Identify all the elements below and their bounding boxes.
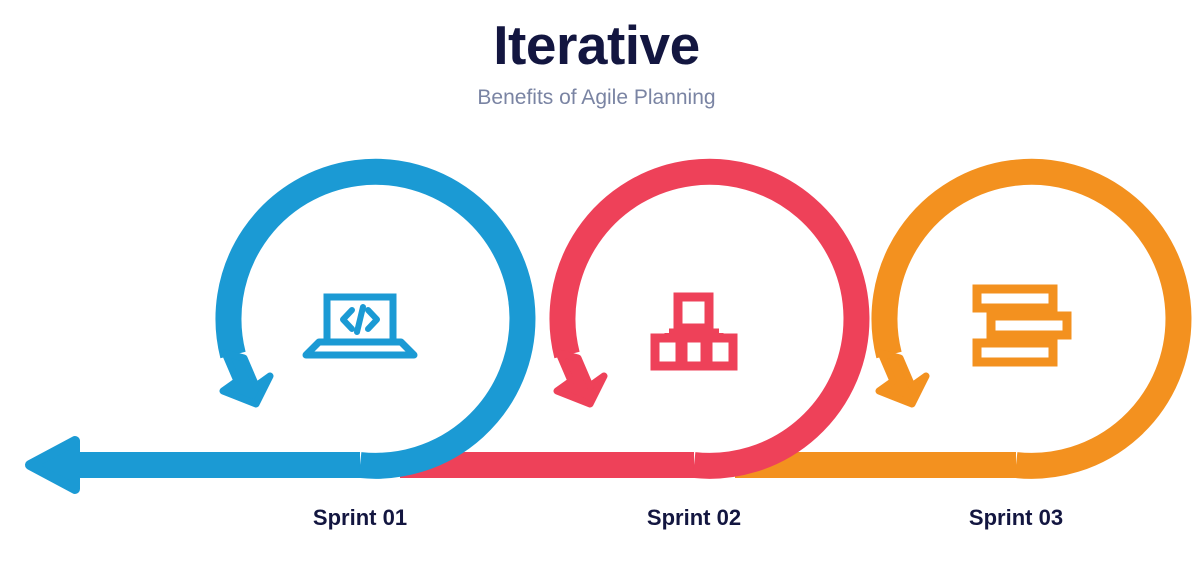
node-right bbox=[705, 338, 733, 366]
iterative-loop-diagram bbox=[0, 0, 1193, 573]
stage-3-arrowhead bbox=[879, 353, 926, 404]
infographic-canvas: Iterative Benefits of Agile Planning bbox=[0, 0, 1193, 573]
baseline-left-arrowhead bbox=[30, 441, 75, 489]
code-left-bracket bbox=[343, 310, 352, 329]
bar-top bbox=[977, 289, 1053, 308]
laptop-code-icon bbox=[306, 297, 414, 355]
stage-label-sprint-01: Sprint 01 bbox=[250, 505, 470, 531]
stage-labels: Sprint 01 Sprint 02 Sprint 03 bbox=[0, 505, 1193, 550]
stage-1-arrowhead bbox=[223, 353, 270, 404]
stacked-bars-icon bbox=[977, 289, 1067, 362]
code-slash bbox=[357, 307, 363, 332]
stage-1-loop[interactable] bbox=[30, 172, 522, 489]
code-right-bracket bbox=[368, 310, 377, 329]
bar-bottom bbox=[977, 343, 1053, 362]
stage-2-arrowhead bbox=[557, 353, 604, 404]
laptop-base bbox=[306, 342, 414, 355]
node-top bbox=[678, 297, 709, 328]
hierarchy-chart-icon bbox=[655, 297, 733, 366]
stage-label-sprint-03: Sprint 03 bbox=[906, 505, 1126, 531]
stage-label-sprint-02: Sprint 02 bbox=[584, 505, 804, 531]
bar-middle bbox=[991, 316, 1067, 335]
